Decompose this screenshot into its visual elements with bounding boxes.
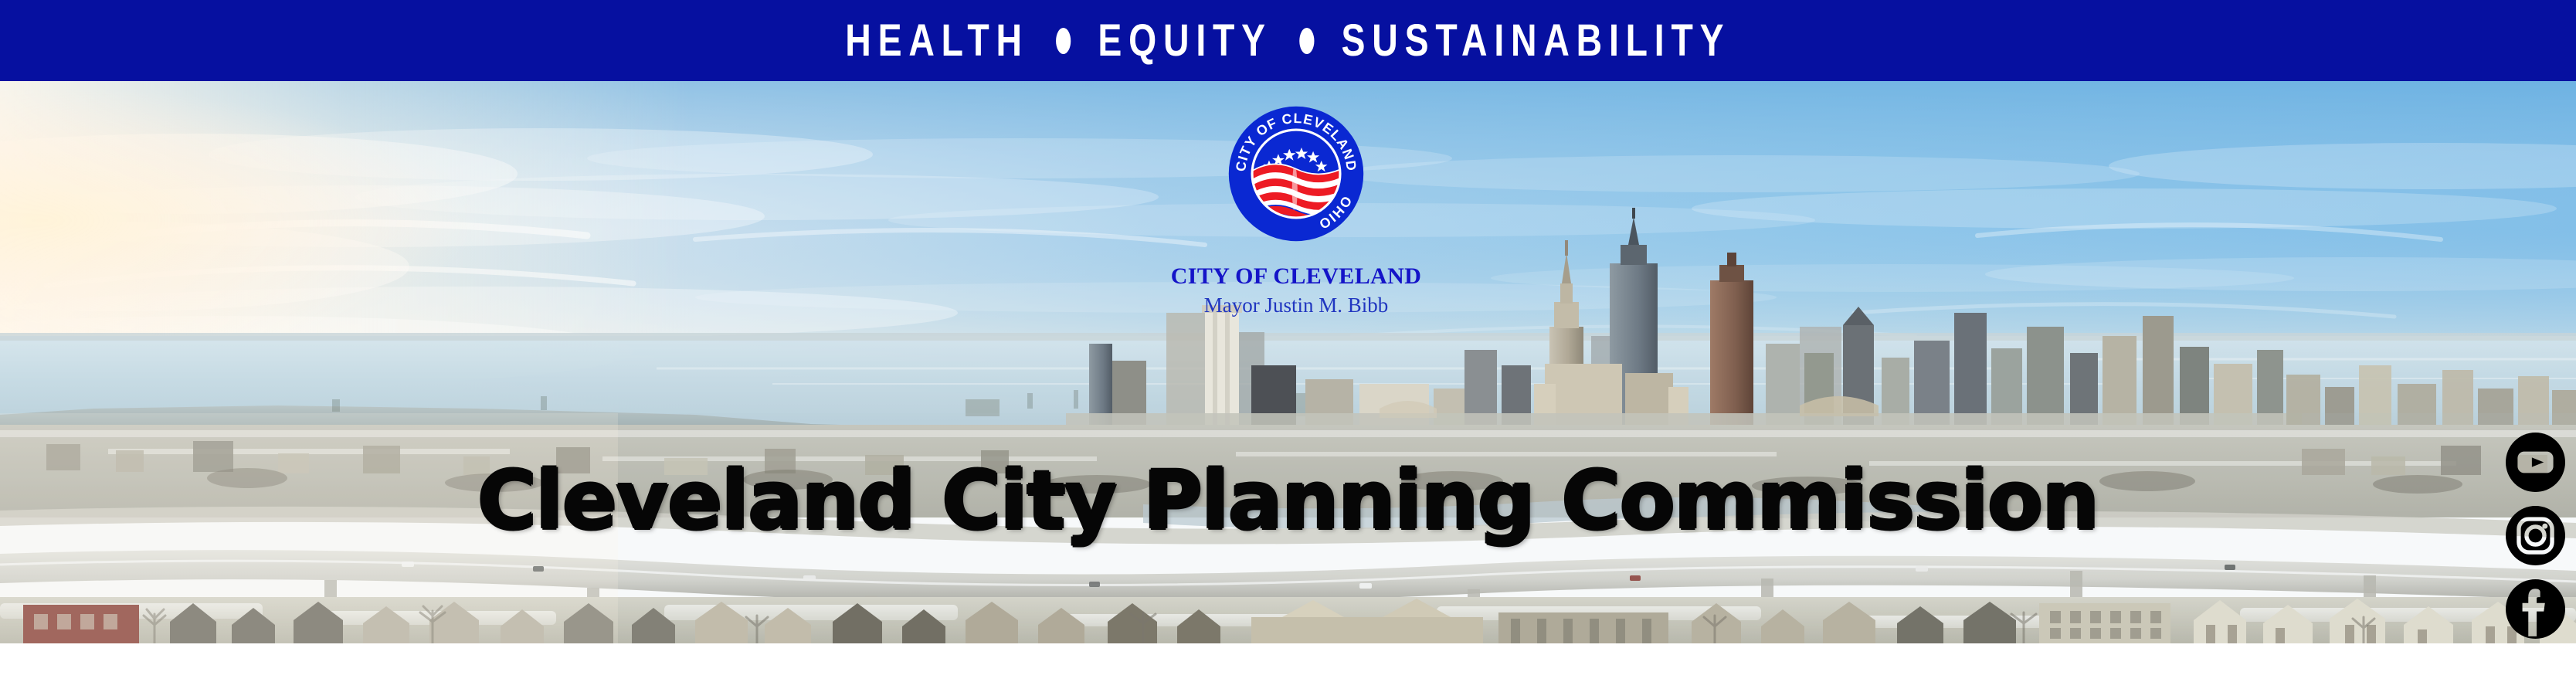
banner-word-health: HEALTH	[845, 19, 1029, 63]
social-links-rail	[2505, 433, 2565, 639]
bullet-dot-icon-1	[1056, 28, 1071, 54]
facebook-icon[interactable]	[2506, 579, 2565, 639]
instagram-icon[interactable]	[2506, 506, 2565, 565]
youtube-icon[interactable]	[2506, 433, 2565, 492]
banner-tagline-group: HEALTH EQUITY SUSTAINABILITY	[845, 19, 1730, 63]
banner-word-sustainability: SUSTAINABILITY	[1342, 19, 1731, 63]
city-of-cleveland-seal-icon: CITY OF CLEVELAND OHIO	[1227, 105, 1365, 243]
bullet-dot-icon-2	[1299, 28, 1314, 54]
mayor-name-text: Mayor Justin M. Bibb	[1095, 294, 1497, 316]
city-logo-lockup[interactable]: CITY OF CLEVELAND OHIO	[1095, 100, 1497, 316]
top-banner: HEALTH EQUITY SUSTAINABILITY	[0, 0, 2576, 81]
banner-word-equity: EQUITY	[1098, 19, 1273, 63]
city-name-text: CITY OF CLEVELAND	[1095, 264, 1497, 289]
page-title: Cleveland City Planning Commission	[0, 460, 2576, 541]
